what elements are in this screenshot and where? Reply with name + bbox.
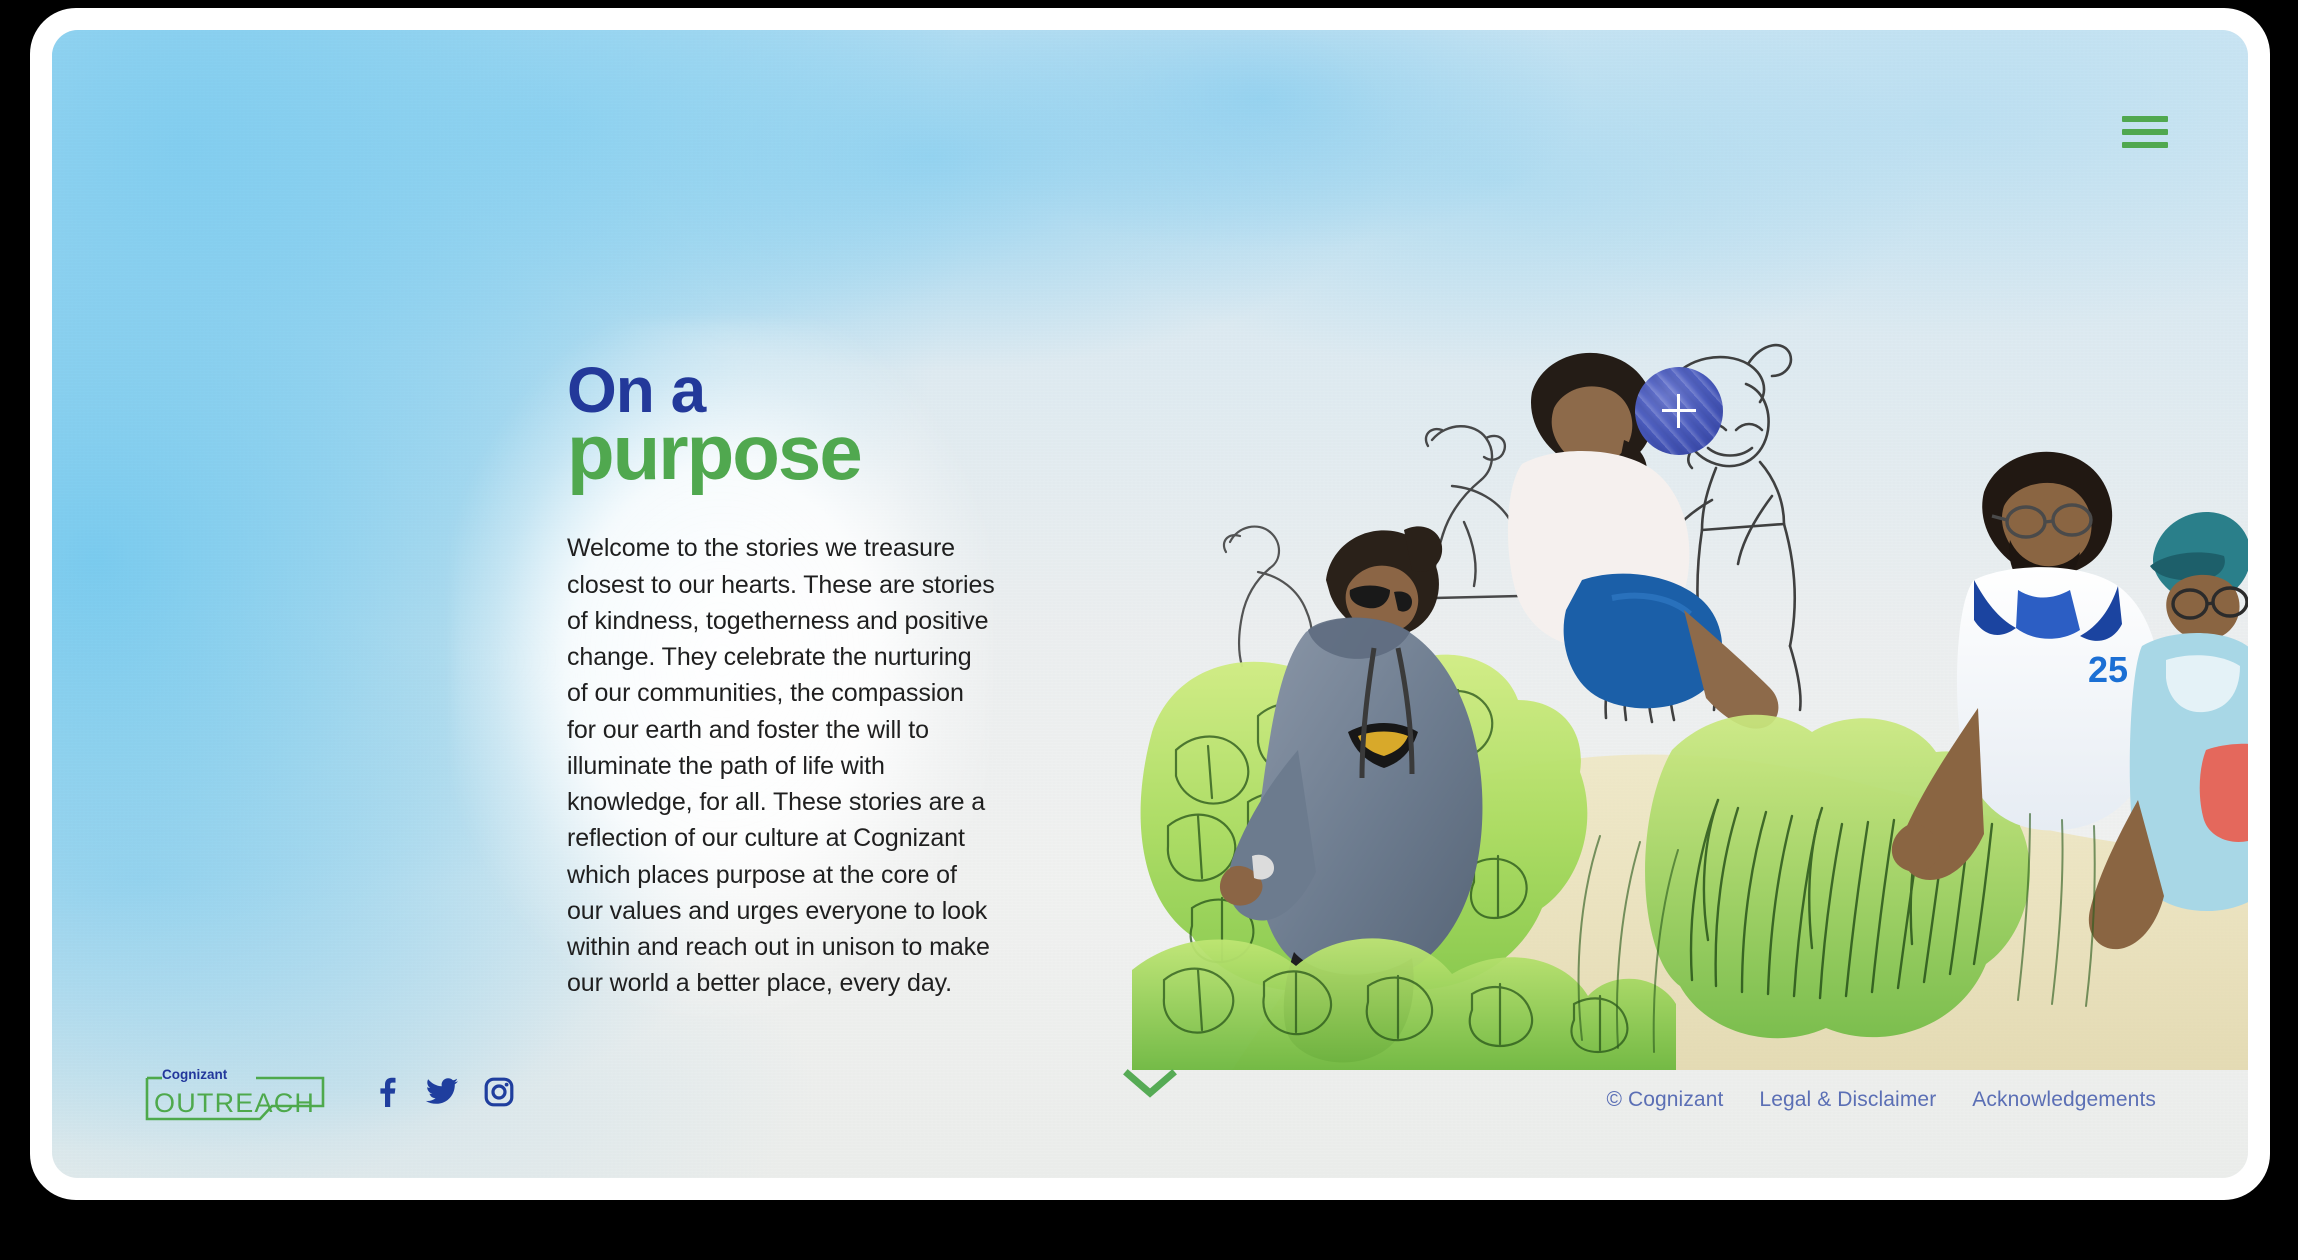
footer-left-group: Cognizant OUTREACH xyxy=(144,1066,514,1122)
logo-bottom-word: OUTREACH xyxy=(154,1088,315,1118)
cognizant-outreach-logo[interactable]: Cognizant OUTREACH xyxy=(144,1066,326,1122)
twitter-icon[interactable] xyxy=(426,1078,458,1111)
instagram-icon[interactable] xyxy=(484,1077,514,1112)
hero-paragraph: Welcome to the stories we treasure close… xyxy=(567,530,997,1001)
page-title-line-2: purpose xyxy=(567,415,997,490)
hamburger-menu-icon[interactable] xyxy=(2122,112,2168,152)
scroll-down-chevron-icon[interactable] xyxy=(1122,1067,1178,1104)
facebook-icon[interactable] xyxy=(374,1077,400,1112)
logo-top-word: Cognizant xyxy=(162,1067,228,1082)
footer-links-group: © Cognizant Legal & Disclaimer Acknowled… xyxy=(1606,1088,2156,1112)
hamburger-bar-3 xyxy=(2122,142,2168,148)
svg-text:25: 25 xyxy=(2088,649,2128,690)
hamburger-bar-2 xyxy=(2122,129,2168,135)
collage-hotspot-plus-icon[interactable] xyxy=(1635,367,1723,455)
legal-disclaimer-link[interactable]: Legal & Disclaimer xyxy=(1759,1088,1936,1112)
social-links-row xyxy=(374,1077,514,1112)
page-viewport: On a purpose Welcome to the stories we t… xyxy=(52,30,2248,1178)
browser-window-frame: On a purpose Welcome to the stories we t… xyxy=(30,8,2270,1200)
acknowledgements-link[interactable]: Acknowledgements xyxy=(1972,1088,2156,1112)
page-title: On a purpose xyxy=(567,360,997,490)
plus-icon xyxy=(1662,394,1696,428)
copyright-label: © Cognizant xyxy=(1606,1088,1723,1112)
hamburger-bar-1 xyxy=(2122,116,2168,122)
hero-copy-block: On a purpose Welcome to the stories we t… xyxy=(567,360,997,1002)
